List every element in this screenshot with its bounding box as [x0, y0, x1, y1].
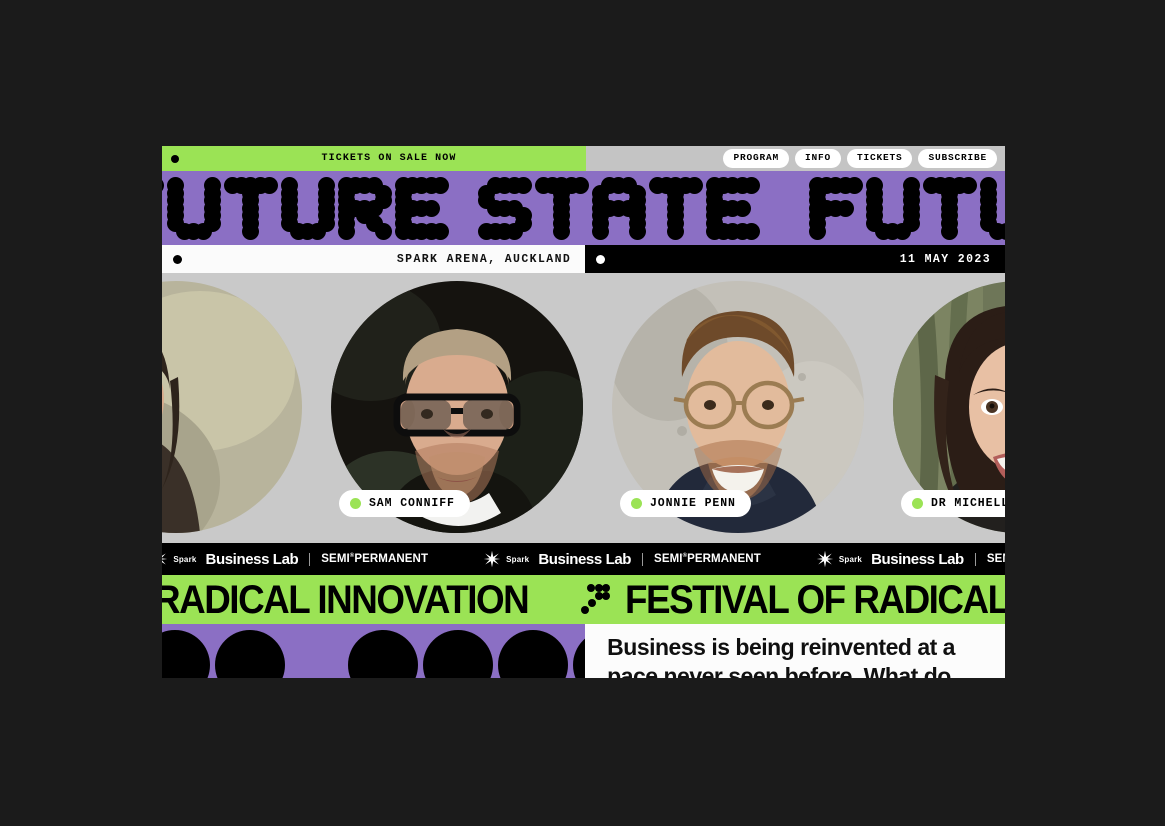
dot-letter-t	[923, 177, 977, 239]
sponsor-divider	[975, 553, 976, 566]
sponsor-marquee: ENTSparkBusiness LabSEMI®PERMANENTSparkB…	[162, 543, 1005, 575]
dot-shape	[162, 630, 210, 678]
dot-letter-a	[592, 177, 646, 239]
spark-wordmark: Spark	[506, 555, 529, 564]
speaker-carousel[interactable]: SAM CONNIFF	[162, 273, 1005, 543]
spark-star-icon	[816, 550, 834, 568]
dot-letter-f	[162, 177, 164, 239]
dot-letter-u	[167, 177, 221, 239]
date-panel: 11 MAY 2023	[585, 245, 1005, 273]
sponsor-marquee-track: ENTSparkBusiness LabSEMI®PERMANENTSparkB…	[162, 543, 1005, 575]
spark-star-icon	[483, 550, 501, 568]
sponsor-logo-unit: SparkBusiness LabSEMI®PERMANENT	[162, 550, 428, 568]
hero-marquee-track	[162, 171, 1005, 245]
speaker-card[interactable]: JONNIE PENN	[612, 281, 864, 533]
main-navigation: PROGRAM INFO TICKETS SUBSCRIBE	[723, 146, 997, 171]
bullet-dot-icon	[171, 155, 179, 163]
sponsor-logo-unit: SparkBusiness LabSEMI®PERMANENT	[816, 550, 1005, 568]
speaker-card[interactable]: SAM CONNIFF	[331, 281, 583, 533]
nav-button-program[interactable]: PROGRAM	[723, 149, 789, 167]
semi-permanent-wordmark: SEMI®PERMANENT	[654, 553, 761, 565]
sponsor-divider	[642, 553, 643, 566]
dot-shape	[423, 630, 493, 678]
bullet-dot-icon	[173, 255, 182, 264]
nav-button-tickets[interactable]: TICKETS	[847, 149, 913, 167]
radical-marquee-track: RADICAL INNOVATION FESTIVAL OF RADICAL I…	[162, 580, 1005, 620]
hero-marquee-word	[162, 177, 763, 239]
status-dot-icon	[912, 498, 923, 509]
speaker-portrait	[162, 281, 302, 533]
intro-copy-panel: Business is being reinvented at a pace n…	[585, 624, 1005, 678]
dot-letter-u	[281, 177, 335, 239]
dot-letter-u	[866, 177, 920, 239]
event-info-bar: SPARK ARENA, AUCKLAND 11 MAY 2023	[162, 245, 1005, 273]
status-dot-icon	[631, 498, 642, 509]
spark-wordmark: Spark	[839, 555, 862, 564]
arrow-up-right-dots-icon	[578, 584, 608, 616]
ticker-banner[interactable]: TICKETS ON SALE NOW	[162, 146, 586, 171]
decorative-dot-panel	[162, 624, 585, 678]
speaker-card[interactable]: DR MICHELLE DICKINSON	[893, 281, 1005, 533]
announcement-bar: TICKETS ON SALE NOW PROGRAM INFO TICKETS…	[162, 146, 1005, 171]
speaker-name-pill[interactable]: JONNIE PENN	[620, 490, 751, 517]
dot-shape	[573, 630, 585, 678]
radical-segment-1: RADICAL INNOVATION	[162, 580, 528, 620]
speaker-carousel-track: SAM CONNIFF	[162, 281, 1005, 533]
bullet-dot-icon	[596, 255, 605, 264]
speaker-name-pill[interactable]: SAM CONNIFF	[339, 490, 470, 517]
dot-letter-e	[395, 177, 449, 239]
business-lab-wordmark: Business Lab	[206, 551, 299, 568]
dot-shape	[348, 630, 418, 678]
intro-paragraph: Business is being reinvented at a pace n…	[607, 633, 983, 678]
sponsor-divider	[309, 553, 310, 566]
dot-letter-f	[809, 177, 863, 239]
status-dot-icon	[350, 498, 361, 509]
speaker-card[interactable]	[162, 281, 302, 533]
date-label: 11 MAY 2023	[900, 253, 991, 266]
hero-marquee	[162, 171, 1005, 245]
ticker-label: TICKETS ON SALE NOW	[292, 153, 457, 164]
dot-letter-t	[535, 177, 589, 239]
dot-letter-u	[980, 177, 1005, 239]
dot-row	[162, 630, 585, 678]
speaker-name-pill[interactable]: DR MICHELLE DICKINSON	[901, 490, 1005, 517]
dot-letter-t	[649, 177, 703, 239]
radical-marquee: RADICAL INNOVATION FESTIVAL OF RADICAL I…	[162, 575, 1005, 624]
intro-section: Business is being reinvented at a pace n…	[162, 624, 1005, 678]
dot-letter-s	[478, 177, 532, 239]
business-lab-wordmark: Business Lab	[538, 551, 631, 568]
sponsor-logo-unit: SparkBusiness LabSEMI®PERMANENT	[483, 550, 761, 568]
semi-permanent-wordmark: SEMI®PERMANENT	[321, 553, 428, 565]
venue-panel: SPARK ARENA, AUCKLAND	[162, 245, 585, 273]
radical-segment-2: FESTIVAL OF RADICAL INNOVATION	[625, 580, 1005, 620]
speaker-name-label: SAM CONNIFF	[369, 497, 455, 510]
spark-star-icon	[162, 550, 168, 568]
business-lab-wordmark: Business Lab	[871, 551, 964, 568]
speaker-name-label: JONNIE PENN	[650, 497, 736, 510]
nav-button-info[interactable]: INFO	[795, 149, 841, 167]
dot-letter-e	[706, 177, 760, 239]
dot-letter-r	[338, 177, 392, 239]
hero-marquee-word	[809, 177, 1005, 239]
browser-viewport: TICKETS ON SALE NOW PROGRAM INFO TICKETS…	[162, 146, 1005, 678]
dot-shape	[498, 630, 568, 678]
dot-letter-t	[224, 177, 278, 239]
semi-permanent-wordmark: SEMI®PERMANENT	[987, 553, 1005, 565]
speaker-name-label: DR MICHELLE DICKINSON	[931, 497, 1005, 510]
dot-shape	[215, 630, 285, 678]
spark-wordmark: Spark	[173, 555, 196, 564]
venue-label: SPARK ARENA, AUCKLAND	[397, 253, 571, 266]
nav-button-subscribe[interactable]: SUBSCRIBE	[918, 149, 997, 167]
